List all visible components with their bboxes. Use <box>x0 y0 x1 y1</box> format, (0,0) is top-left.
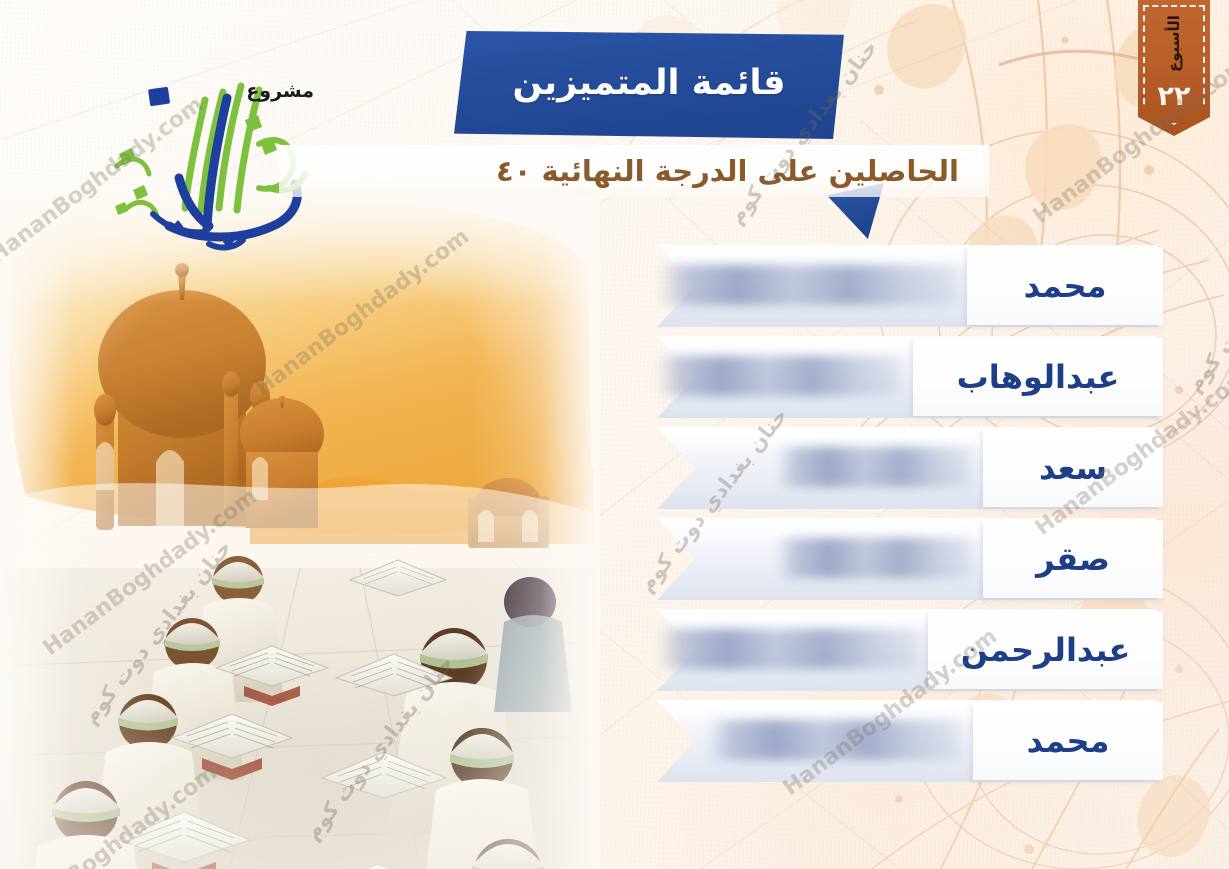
week-number: ٢٢ <box>1158 81 1191 112</box>
subtitle-bar: الحاصلين على الدرجة النهائية ٤٠ <box>279 145 989 197</box>
student-first-name: عبدالرحمن <box>961 631 1131 669</box>
watermark-arabic: حنان بغدادي دوت كوم <box>1182 203 1229 396</box>
name-card: صقر <box>983 520 1163 598</box>
student-first-name: محمد <box>1027 722 1110 760</box>
name-card: عبدالوهاب <box>913 338 1163 416</box>
student-first-name: صقر <box>1036 540 1110 578</box>
week-label: الأسبوع <box>1165 15 1183 67</box>
student-first-name: عبدالوهاب <box>957 358 1120 396</box>
page-title: قائمة المتميزين <box>512 63 785 107</box>
list-item[interactable]: سعد <box>657 427 1157 509</box>
student-first-name: سعد <box>1039 449 1107 487</box>
list-item[interactable]: محمد <box>657 245 1157 327</box>
photo-illustration <box>0 196 600 869</box>
week-badge: الأسبوع ٢٢ <box>1138 0 1210 136</box>
poster-canvas: مشروع الأسبوع ٢٢ قائمة المتميزين الحاصلي… <box>0 0 1229 869</box>
logo-prefix-text: مشروع <box>246 80 314 102</box>
name-card: عبدالرحمن <box>928 611 1163 689</box>
title-banner: قائمة المتميزين <box>454 31 844 139</box>
list-item[interactable]: عبدالوهاب <box>657 336 1157 418</box>
page-subtitle: الحاصلين على الدرجة النهائية ٤٠ <box>496 154 959 188</box>
list-item[interactable]: صقر <box>657 518 1157 600</box>
name-card: محمد <box>973 702 1163 780</box>
honor-roll-list: محمد عبدالوهاب سعد صقر <box>657 245 1157 815</box>
list-item[interactable]: محمد <box>657 700 1157 782</box>
name-card: محمد <box>967 247 1163 325</box>
name-card: سعد <box>983 429 1163 507</box>
list-item[interactable]: عبدالرحمن <box>657 609 1157 691</box>
student-first-name: محمد <box>1024 267 1107 305</box>
children-reading-quran-photo <box>0 196 600 869</box>
